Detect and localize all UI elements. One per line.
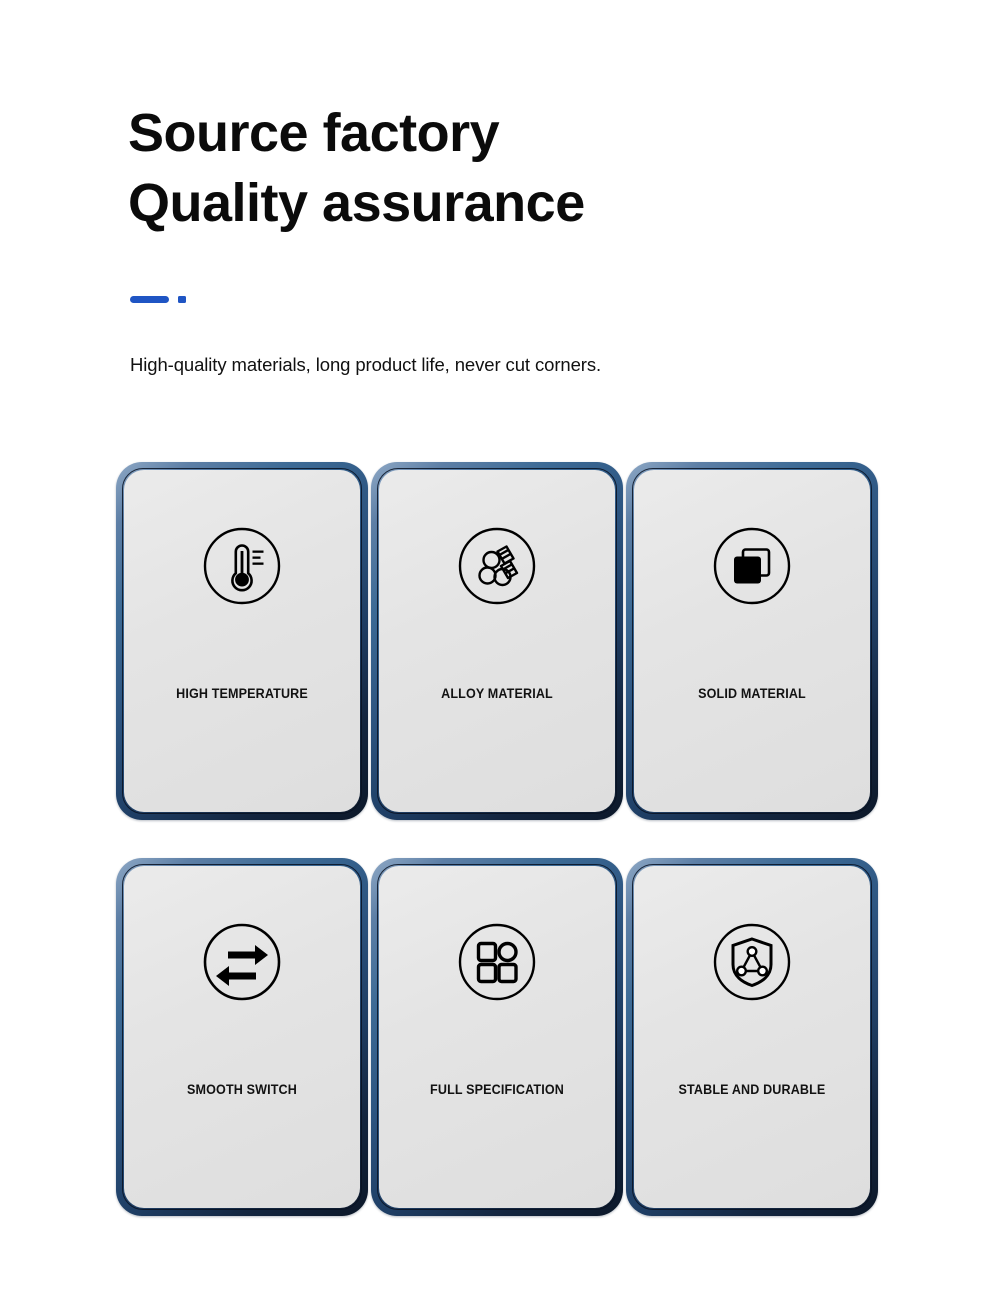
feature-card[interactable]: SOLID MATERIAL (626, 462, 878, 820)
solid-squares-icon (712, 526, 792, 606)
feature-card-inner: STABLE AND DURABLE (634, 866, 870, 1208)
feature-card-grid: HIGH TEMPERATURE (116, 462, 878, 1216)
shield-network-icon (712, 922, 792, 1002)
feature-card-label: STABLE AND DURABLE (642, 1082, 861, 1097)
feature-highlights-page: Source factory Quality assurance High-qu… (0, 0, 1000, 1314)
page-title-line-2: Quality assurance (128, 168, 888, 238)
feature-card[interactable]: STABLE AND DURABLE (626, 858, 878, 1216)
feature-card-inner: FULL SPECIFICATION (379, 866, 615, 1208)
feature-card-label: FULL SPECIFICATION (387, 1082, 606, 1097)
feature-card-label: SOLID MATERIAL (642, 686, 861, 701)
two-way-arrows-icon (202, 922, 282, 1002)
thermometer-icon (202, 526, 282, 606)
feature-card[interactable]: HIGH TEMPERATURE (116, 462, 368, 820)
page-header: Source factory Quality assurance (128, 98, 888, 238)
feature-card-label: HIGH TEMPERATURE (132, 686, 351, 701)
alloy-rods-icon (457, 526, 537, 606)
divider-dot (178, 296, 186, 303)
feature-card-inner: SOLID MATERIAL (634, 470, 870, 812)
grid-shapes-icon (457, 922, 537, 1002)
feature-card-label: ALLOY MATERIAL (387, 686, 606, 701)
page-subtitle: High-quality materials, long product lif… (130, 352, 601, 378)
feature-card-label: SMOOTH SWITCH (132, 1082, 351, 1097)
divider-bar (130, 296, 169, 303)
feature-card-inner: HIGH TEMPERATURE (124, 470, 360, 812)
feature-card[interactable]: FULL SPECIFICATION (371, 858, 623, 1216)
accent-divider (130, 296, 186, 303)
feature-card[interactable]: ALLOY MATERIAL (371, 462, 623, 820)
feature-card-inner: SMOOTH SWITCH (124, 866, 360, 1208)
feature-card-inner: ALLOY MATERIAL (379, 470, 615, 812)
page-title-line-1: Source factory (128, 98, 888, 168)
feature-card[interactable]: SMOOTH SWITCH (116, 858, 368, 1216)
